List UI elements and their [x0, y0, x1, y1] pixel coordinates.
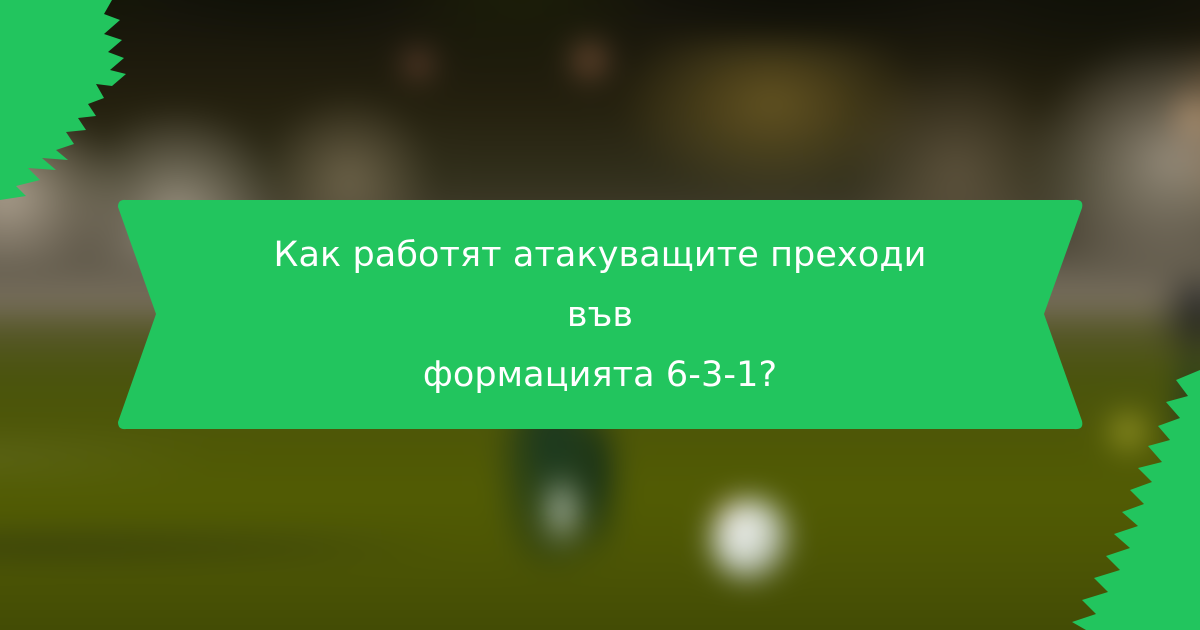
blurred-player-center-head	[566, 30, 614, 90]
blurred-player-left-head	[397, 38, 439, 91]
banner-title-line-1: Как работят атакуващите преходи във	[250, 225, 950, 345]
football-ball	[711, 499, 790, 582]
torn-paper-top-left	[0, 0, 200, 220]
foreground-player-sock	[542, 473, 582, 548]
ribbon-banner: Как работят атакуващите преходи във форм…	[108, 197, 1092, 432]
share-card: Как работят атакуващите преходи във форм…	[0, 0, 1200, 630]
foreground-player-shin	[574, 420, 622, 555]
banner-title-line-2: формацията 6-3-1?	[250, 345, 950, 405]
banner-title: Как работят атакуващите преходи във форм…	[250, 225, 950, 405]
